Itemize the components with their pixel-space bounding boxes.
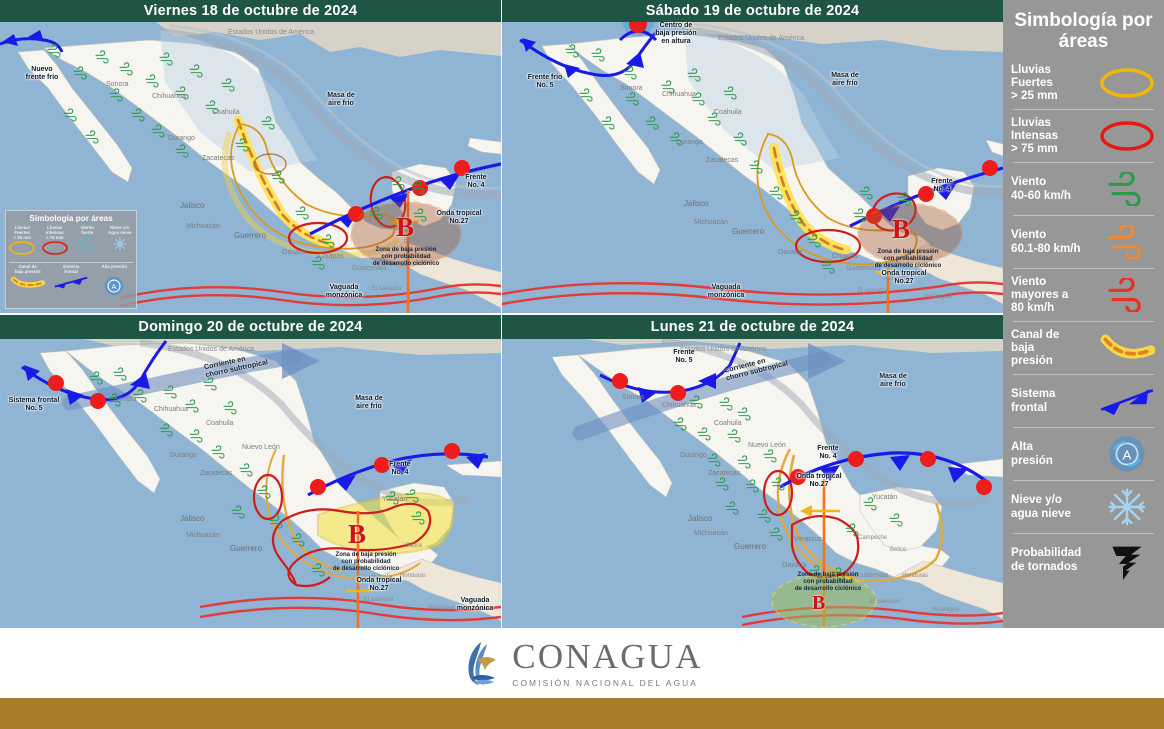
svg-text:Chihuahua: Chihuahua (152, 93, 186, 100)
svg-text:Zacatecas: Zacatecas (708, 470, 741, 477)
legend-item-viento-40-60: Viento 40-60 km/h (1011, 163, 1156, 215)
svg-text:Guerrero: Guerrero (732, 227, 765, 236)
low-pressure-symbol: B (396, 214, 414, 241)
svg-text:Estados Unidos de América: Estados Unidos de América (680, 346, 766, 353)
forecast-sheet: Viernes 18 de octubre de 2024 (0, 0, 1164, 729)
low-pressure-symbol: B (892, 216, 910, 243)
inset-legend-row-2: Canal de baja presión Sistema frontal Al… (6, 264, 136, 302)
svg-text:Oaxaca: Oaxaca (282, 249, 306, 256)
legend-label: Lluvias Intensas > 75 mm (1011, 116, 1097, 156)
red-ellipse-icon (1097, 120, 1156, 152)
inset-legend-title: Simbología por áreas (6, 211, 136, 225)
panel-title-lunes: Lunes 21 de octubre de 2024 (502, 315, 1003, 339)
high-pressure-icon: A (101, 275, 127, 297)
inset-label: Nieve y/o Agua nieve (104, 225, 137, 236)
svg-text:Jalisco: Jalisco (180, 514, 205, 523)
inset-label: Lluvias Intensas > 75 mm (39, 225, 72, 240)
svg-text:Campeche: Campeche (858, 535, 888, 541)
panel-title-sabado: Sábado 19 de octubre de 2024 (502, 0, 1003, 22)
svg-text:Jalisco: Jalisco (684, 199, 709, 208)
conagua-subtitle: COMISIÓN NACIONAL DEL AGUA (512, 678, 702, 688)
svg-text:Belice: Belice (406, 543, 423, 549)
legend-items-list: Lluvias Fuertes > 25 mm Lluvias Intensas… (1003, 57, 1164, 586)
svg-text:Michoacán: Michoacán (186, 223, 220, 230)
svg-text:Jalisco: Jalisco (180, 201, 205, 210)
svg-text:Guerrero: Guerrero (734, 542, 767, 551)
snowflake-icon (105, 236, 135, 252)
svg-text:Michoacán: Michoacán (186, 532, 220, 539)
map-panel-sabado[interactable]: Sábado 19 de octubre de 2024 (502, 0, 1003, 313)
svg-text:Nicaragua: Nicaragua (924, 294, 952, 300)
legend-title: Simbología por áreas (1003, 0, 1164, 57)
svg-text:El salvador: El salvador (858, 288, 888, 294)
svg-text:Sonora: Sonora (622, 394, 645, 401)
svg-text:Guerrero: Guerrero (234, 231, 267, 240)
svg-text:Coahuila: Coahuila (714, 420, 742, 427)
svg-text:Durango: Durango (680, 452, 707, 459)
svg-text:Jalisco: Jalisco (688, 514, 713, 523)
svg-text:Zacatecas: Zacatecas (200, 470, 233, 477)
map-canvas-domingo[interactable]: Estados Unidos de América Sonora Chihuah… (0, 339, 501, 628)
svg-text:Coahuila: Coahuila (212, 109, 240, 116)
map-graphic-lunes: Estados Unidos de América Sonora Chihuah… (502, 339, 1003, 628)
svg-text:Durango: Durango (170, 452, 197, 459)
map-panel-grid: Viernes 18 de octubre de 2024 (0, 0, 1003, 628)
svg-text:Chihuahua: Chihuahua (154, 406, 188, 413)
wind-red-icon (1097, 278, 1156, 312)
svg-text:Coahuila: Coahuila (206, 420, 234, 427)
low-pressure-zone-text: Zona de baja presión con probabilidad de… (352, 246, 460, 268)
inset-label: Canal de baja presión (6, 264, 49, 275)
legend-item-canal-baja-presion: Canal de baja presión (1011, 322, 1156, 374)
legend-item-lluvias-intensas: Lluvias Intensas > 75 mm (1011, 110, 1156, 162)
svg-text:Sonora: Sonora (106, 81, 129, 88)
map-panel-viernes[interactable]: Viernes 18 de octubre de 2024 (0, 0, 501, 313)
inset-item-lluvias-intensas: Lluvias Intensas > 75 mm (39, 225, 72, 261)
footer-branding: CONAGUA COMISIÓN NACIONAL DEL AGUA (0, 628, 1164, 698)
inset-label: Alta presión (93, 264, 136, 275)
svg-text:Yucatán: Yucatán (382, 496, 407, 503)
panel-title-domingo: Domingo 20 de octubre de 2024 (0, 315, 501, 339)
cold-front-icon (53, 275, 89, 291)
inset-item-nieve: Nieve y/o Agua nieve (104, 225, 137, 261)
legend-item-viento-mayor-80: Viento mayores a 80 km/h (1011, 269, 1156, 321)
svg-text:Oaxaca: Oaxaca (778, 249, 802, 256)
svg-text:El salvador: El salvador (870, 599, 900, 605)
conagua-logo-icon (461, 640, 501, 686)
inset-item-sistema-frontal: Sistema frontal (49, 264, 92, 302)
orange-ellipse-icon (1097, 67, 1156, 99)
panel-title-viernes: Viernes 18 de octubre de 2024 (0, 0, 501, 22)
legend-label: Viento 40-60 km/h (1011, 175, 1097, 202)
trough-icon (10, 275, 46, 291)
wind-green-icon (1097, 172, 1156, 206)
inset-label: Sistema frontal (49, 264, 92, 275)
svg-text:Chiapas: Chiapas (318, 253, 344, 260)
trough-icon (1097, 331, 1156, 365)
inset-item-canal-baja-presion: Canal de baja presión (6, 264, 49, 302)
svg-text:Belice: Belice (890, 547, 907, 553)
inset-item-lluvias-fuertes: Lluvias Fuertes > 25 mm (6, 225, 39, 261)
inset-label: Viento fuerte (71, 225, 104, 236)
svg-text:Honduras: Honduras (400, 573, 426, 579)
svg-text:A: A (1122, 447, 1131, 462)
svg-text:El salvador: El salvador (364, 597, 394, 603)
svg-text:Nuevo León: Nuevo León (242, 444, 280, 451)
low-pressure-zone-text: Zona de baja presión con probabilidad de… (312, 551, 420, 573)
legend-sidebar: Simbología por áreas Lluvias Fuertes > 2… (1003, 0, 1164, 628)
legend-label: Viento mayores a 80 km/h (1011, 275, 1097, 315)
snowflake-icon (1097, 487, 1156, 527)
legend-label: Lluvias Fuertes > 25 mm (1011, 63, 1097, 103)
svg-text:El salvador: El salvador (372, 286, 402, 292)
svg-text:Sonora: Sonora (114, 396, 137, 403)
cold-front-icon (1097, 385, 1156, 417)
legend-item-lluvias-fuertes: Lluvias Fuertes > 25 mm (1011, 57, 1156, 109)
inset-item-alta-presion: Alta presión A (93, 264, 136, 302)
svg-text:Durango: Durango (168, 135, 195, 142)
svg-text:Honduras: Honduras (902, 573, 928, 579)
inset-label: Lluvias Fuertes > 25 mm (6, 225, 39, 240)
legend-item-tornados: Probabilidad de tornados (1011, 534, 1156, 586)
inset-item-viento-fuerte: Viento fuerte (71, 225, 104, 261)
svg-text:Michoacán: Michoacán (694, 219, 728, 226)
legend-item-alta-presion: Alta presión A (1011, 428, 1156, 480)
svg-text:Zacatecas: Zacatecas (202, 155, 235, 162)
legend-item-nieve: Nieve y/o agua nieve (1011, 481, 1156, 533)
legend-label: Nieve y/o agua nieve (1011, 493, 1097, 520)
red-ellipse-icon (40, 240, 70, 256)
svg-text:Chihuahua: Chihuahua (662, 402, 696, 409)
conagua-brand: CONAGUA (512, 639, 702, 674)
tornado-icon (1097, 540, 1156, 580)
svg-text:Nicaragua: Nicaragua (932, 607, 960, 613)
low-pressure-symbol: B (348, 521, 366, 548)
inset-legend: Simbología por áreas Lluvias Fuertes > 2… (5, 210, 137, 309)
legend-label: Alta presión (1011, 440, 1097, 467)
wind-icon (72, 236, 102, 252)
map-panel-lunes[interactable]: Lunes 21 de octubre de 2024 (502, 315, 1003, 628)
svg-text:Estados Unidos de América: Estados Unidos de América (228, 29, 314, 36)
high-pressure-icon: A (1097, 434, 1156, 474)
svg-text:Nuevo León: Nuevo León (748, 442, 786, 449)
inset-divider (9, 262, 133, 263)
svg-text:Coahuila: Coahuila (714, 109, 742, 116)
svg-text:Sonora: Sonora (620, 85, 643, 92)
legend-label: Probabilidad de tornados (1011, 546, 1097, 573)
gold-accent-bar (0, 698, 1164, 729)
legend-label: Sistema frontal (1011, 387, 1097, 414)
svg-text:Oaxaca: Oaxaca (782, 562, 806, 569)
svg-text:Nicaragua: Nicaragua (428, 605, 456, 611)
legend-item-sistema-frontal: Sistema frontal (1011, 375, 1156, 427)
svg-text:Estados Unidos de América: Estados Unidos de América (168, 346, 254, 353)
svg-text:Guerrero: Guerrero (230, 544, 263, 553)
svg-text:Veracruz: Veracruz (794, 536, 822, 543)
svg-text:Guatemala: Guatemala (358, 574, 392, 581)
low-pressure-zone-text: Zona de baja presión con probabilidad de… (854, 248, 962, 270)
low-pressure-zone-text: Zona de baja presión con probabilidad de… (774, 571, 882, 593)
low-pressure-symbol: B (812, 593, 825, 613)
svg-text:Yucatán: Yucatán (872, 494, 897, 501)
legend-item-viento-60-80: Viento 60.1-80 km/h (1011, 216, 1156, 268)
inset-legend-row-1: Lluvias Fuertes > 25 mm Lluvias Intensas… (6, 225, 136, 261)
orange-ellipse-icon (7, 240, 37, 256)
map-graphic-domingo: Estados Unidos de América Sonora Chihuah… (0, 339, 501, 628)
svg-text:Estados Unidos de América: Estados Unidos de América (718, 35, 804, 42)
svg-text:Honduras: Honduras (884, 276, 910, 282)
svg-text:Chihuahua: Chihuahua (662, 91, 696, 98)
map-canvas-lunes[interactable]: Estados Unidos de América Sonora Chihuah… (502, 339, 1003, 628)
svg-text:A: A (112, 282, 117, 291)
svg-text:Zacatecas: Zacatecas (706, 157, 739, 164)
legend-label: Viento 60.1-80 km/h (1011, 228, 1097, 255)
map-panel-domingo[interactable]: Domingo 20 de octubre de 2024 (0, 315, 501, 628)
svg-text:Michoacán: Michoacán (694, 530, 728, 537)
map-canvas-sabado[interactable]: Estados Unidos de América Sonora Chihuah… (502, 22, 1003, 313)
conagua-wordmark: CONAGUA COMISIÓN NACIONAL DEL AGUA (512, 639, 702, 688)
svg-text:Durango: Durango (676, 139, 703, 146)
legend-label: Canal de baja presión (1011, 328, 1097, 368)
wind-orange-icon (1097, 225, 1156, 259)
